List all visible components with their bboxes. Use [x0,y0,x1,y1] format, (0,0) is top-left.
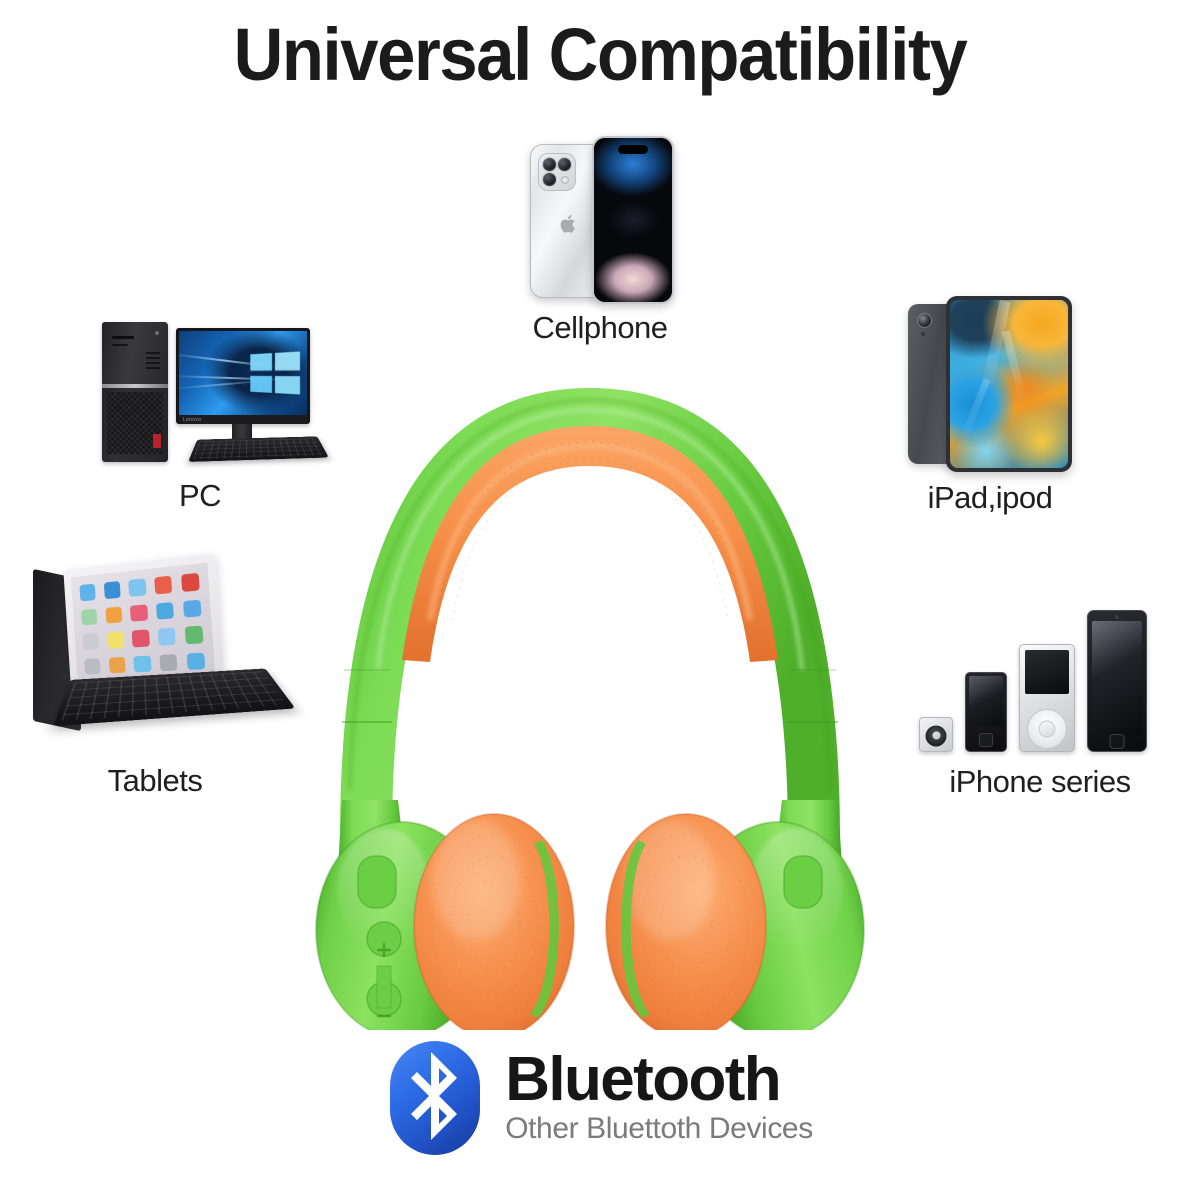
device-label-tablets: Tablets [15,763,295,799]
left-earcup [316,800,574,1030]
ipod-classic-icon [1019,644,1075,752]
ipod-nano-icon [965,672,1007,752]
tablet-keyboard-case-icon [25,552,285,757]
page-title: Universal Compatibility [42,18,1158,92]
device-item-cellphone: Cellphone [450,132,750,346]
app-icon-grid [79,573,206,675]
monitor-brand-mark: Lenovo [183,417,201,423]
tablet-icon [902,292,1078,474]
device-item-iphone-series: iPhone series [900,600,1180,800]
device-label-cellphone: Cellphone [450,310,750,346]
tablet-front-icon [946,296,1072,472]
apple-logo-icon [560,214,577,234]
smartphone-front-icon [592,136,674,304]
bluetooth-wordmark: Bluetooth [505,1050,813,1111]
dynamic-island-icon [618,145,648,154]
right-earcup [606,800,864,1030]
ipod-touch-icon [1087,610,1147,752]
smartphone-icon [520,132,680,304]
device-item-tablets: Tablets [15,552,295,799]
bluetooth-logo-icon [387,1038,483,1158]
ipod-lineup-icon [915,600,1165,758]
bluetooth-subtitle: Other Bluettoth Devices [505,1112,813,1146]
device-label-iphone-series: iPhone series [900,764,1180,800]
ipod-shuffle-icon [919,717,953,752]
bluetooth-section: Bluetooth Other Bluettoth Devices [0,1038,1200,1158]
wireless-headphones-product-image [280,370,900,1030]
pc-tower-icon [102,322,168,462]
